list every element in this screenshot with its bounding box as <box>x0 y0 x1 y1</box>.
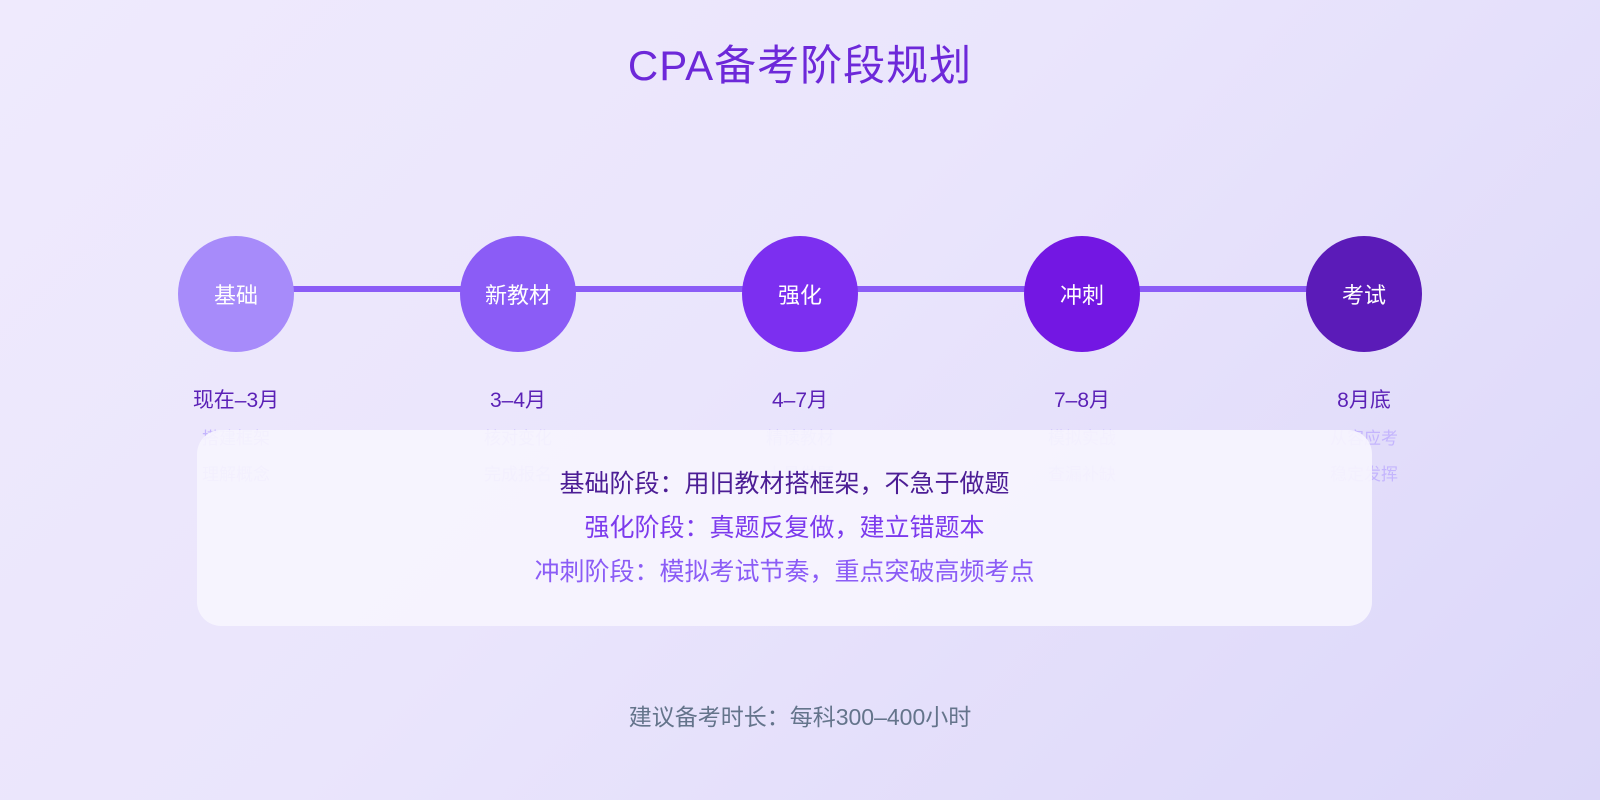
timeline-date-label: 8月底 <box>1306 386 1422 416</box>
timeline-node-new-textbook[interactable]: 新教材 <box>460 236 576 352</box>
timeline-node-foundation[interactable]: 基础 <box>178 236 294 352</box>
timeline-node-label: 冲刺 <box>1060 278 1104 310</box>
study-tip-foundation: 基础阶段：用旧教材搭框架，不急于做题 <box>559 469 1009 499</box>
timeline-date-label: 4–7月 <box>742 386 858 416</box>
timeline-node-label: 考试 <box>1342 278 1386 310</box>
study-tip-intensive: 强化阶段：真题反复做，建立错题本 <box>584 513 984 543</box>
timeline-node-intensive[interactable]: 强化 <box>742 236 858 352</box>
recommended-study-hours: 建议备考时长：每科300–400小时 <box>0 698 1600 732</box>
timeline-node-label: 基础 <box>214 278 258 310</box>
timeline-node-label: 强化 <box>778 278 822 310</box>
timeline-date-label: 7–8月 <box>1024 386 1140 416</box>
timeline-node-exam[interactable]: 考试 <box>1306 236 1422 352</box>
timeline-date-label: 现在–3月 <box>178 386 294 416</box>
timeline-date-label: 3–4月 <box>460 386 576 416</box>
page-title: CPA备考阶段规划 <box>0 32 1600 93</box>
timeline: 基础 新教材 强化 冲刺 考试 <box>178 236 1422 356</box>
timeline-node-sprint[interactable]: 冲刺 <box>1024 236 1140 352</box>
timeline-node-label: 新教材 <box>485 278 551 310</box>
study-tip-sprint: 冲刺阶段：模拟考试节奏，重点突破高频考点 <box>534 557 1034 587</box>
study-tips-card: 基础阶段：用旧教材搭框架，不急于做题 强化阶段：真题反复做，建立错题本 冲刺阶段… <box>197 430 1372 626</box>
